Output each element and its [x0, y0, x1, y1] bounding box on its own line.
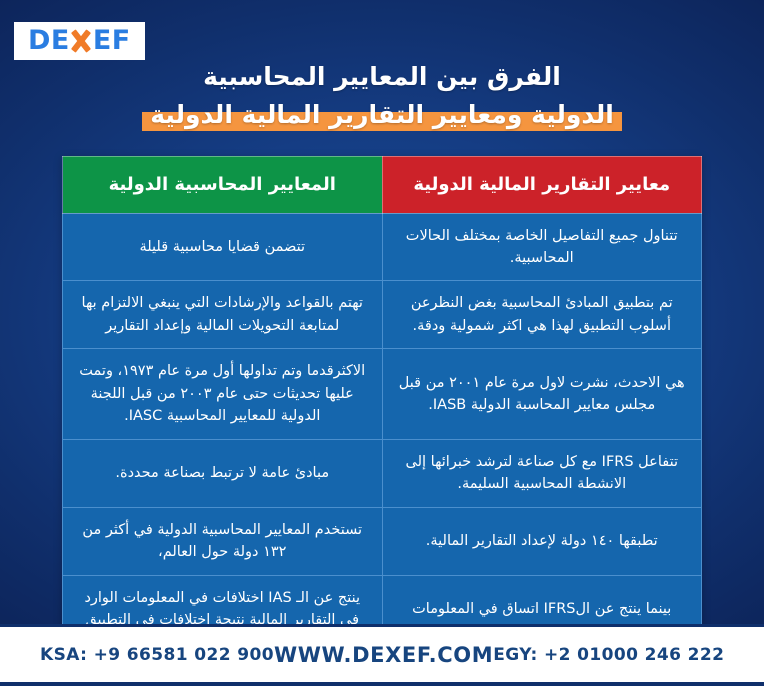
cell-ifrs-2: تم بتطبيق المبادئ المحاسبية بغض النظرعن …: [382, 281, 702, 349]
dexef-logo[interactable]: DE EF: [14, 22, 145, 60]
page-title: الفرق بين المعايير المحاسبية الدولية ومع…: [0, 60, 764, 132]
table-row: تطبقها ١٤٠ دولة لإعداد التقارير المالية.…: [63, 507, 702, 575]
footer-bar: KSA: +9 66581 022 900 WWW.DEXEF.COM EGY:…: [0, 624, 764, 686]
logo-text: DE EF: [28, 27, 131, 54]
cell-ias-4: مبادئ عامة لا ترتبط بصناعة محددة.: [63, 439, 383, 507]
header-ias: المعايير المحاسبية الدولية: [63, 156, 383, 213]
table-row: تم بتطبيق المبادئ المحاسبية بغض النظرعن …: [63, 281, 702, 349]
title-line-1: الفرق بين المعايير المحاسبية: [60, 60, 704, 94]
header-ifrs: معايير التقارير المالية الدولية: [382, 156, 702, 213]
title-line-2-wrap: الدولية ومعايير التقارير المالية الدولية: [148, 98, 616, 132]
cell-ifrs-5: تطبقها ١٤٠ دولة لإعداد التقارير المالية.: [382, 507, 702, 575]
table-header-row: معايير التقارير المالية الدولية المعايير…: [63, 156, 702, 213]
website-link[interactable]: WWW.DEXEF.COM: [274, 643, 493, 667]
logo-text-right: EF: [93, 27, 131, 54]
comparison-table: معايير التقارير المالية الدولية المعايير…: [62, 156, 702, 667]
infographic-page: DE EF الفرق بين المعايير المحاسبية الدول…: [0, 0, 764, 686]
egy-phone[interactable]: EGY: +2 01000 246 222: [493, 645, 724, 665]
cell-ifrs-4: تتفاعل IFRS مع كل صناعة لترشد خبرائها إل…: [382, 439, 702, 507]
cell-ias-2: تهتم بالقواعد والإرشادات التي ينبغي الال…: [63, 281, 383, 349]
cell-ifrs-1: تتناول جميع التفاصيل الخاصة بمختلف الحال…: [382, 213, 702, 281]
ksa-phone[interactable]: KSA: +9 66581 022 900: [40, 645, 274, 665]
cell-ifrs-3: هي الاحدث، نشرت لاول مرة عام ٢٠٠١ من قبل…: [382, 349, 702, 439]
x-slash-icon: [71, 28, 92, 54]
cell-ias-3: الاكثرقدما وتم تداولها أول مرة عام ١٩٧٣،…: [63, 349, 383, 439]
table-row: هي الاحدث، نشرت لاول مرة عام ٢٠٠١ من قبل…: [63, 349, 702, 439]
footer-content: KSA: +9 66581 022 900 WWW.DEXEF.COM EGY:…: [22, 643, 742, 667]
table-row: تتناول جميع التفاصيل الخاصة بمختلف الحال…: [63, 213, 702, 281]
title-line-2: الدولية ومعايير التقارير المالية الدولية: [148, 100, 616, 129]
table-row: تتفاعل IFRS مع كل صناعة لترشد خبرائها إل…: [63, 439, 702, 507]
cell-ias-5: تستخدم المعايير المحاسبية الدولية في أكث…: [63, 507, 383, 575]
logo-text-left: DE: [28, 27, 70, 54]
cell-ias-1: تتضمن قضايا محاسبية قليلة: [63, 213, 383, 281]
